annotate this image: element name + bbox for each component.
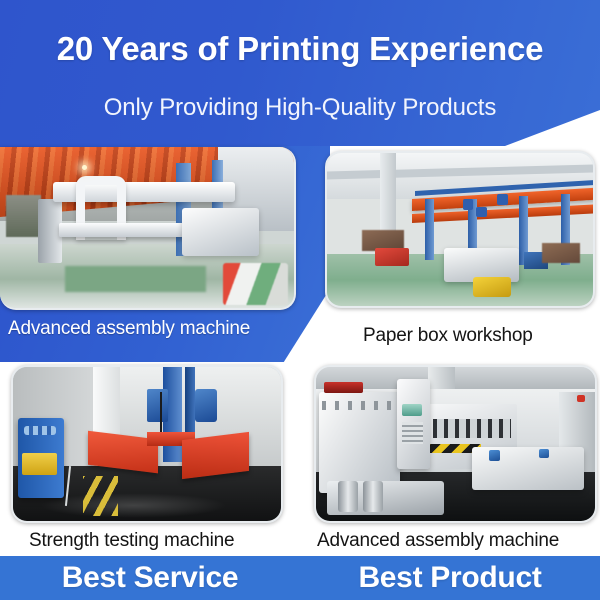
photo-card-bottom-left — [11, 365, 283, 523]
bottom-banner: Best Service Best Product — [0, 556, 600, 600]
photo-advanced-assembly-machine-top — [0, 147, 296, 310]
promo-banner-image: 20 Years of Printing Experience Only Pro… — [0, 0, 600, 600]
caption-bottom-left: Strength testing machine — [29, 530, 234, 552]
photo-paper-box-workshop — [325, 151, 595, 308]
photo-card-bottom-right — [314, 365, 597, 523]
page-title: 20 Years of Printing Experience — [0, 30, 600, 68]
banner-best-service: Best Service — [0, 561, 300, 595]
photo-card-top-left — [0, 147, 296, 310]
banner-best-product: Best Product — [300, 561, 600, 595]
photo-advanced-assembly-machine-bottom — [314, 365, 597, 523]
caption-top-left: Advanced assembly machine — [8, 318, 250, 340]
page-subtitle: Only Providing High-Quality Products — [0, 94, 600, 122]
photo-strength-testing-machine — [11, 365, 283, 523]
caption-top-right: Paper box workshop — [363, 325, 533, 347]
photo-card-top-right — [325, 151, 595, 308]
header-banner — [0, 0, 600, 146]
caption-bottom-right: Advanced assembly machine — [317, 530, 559, 552]
